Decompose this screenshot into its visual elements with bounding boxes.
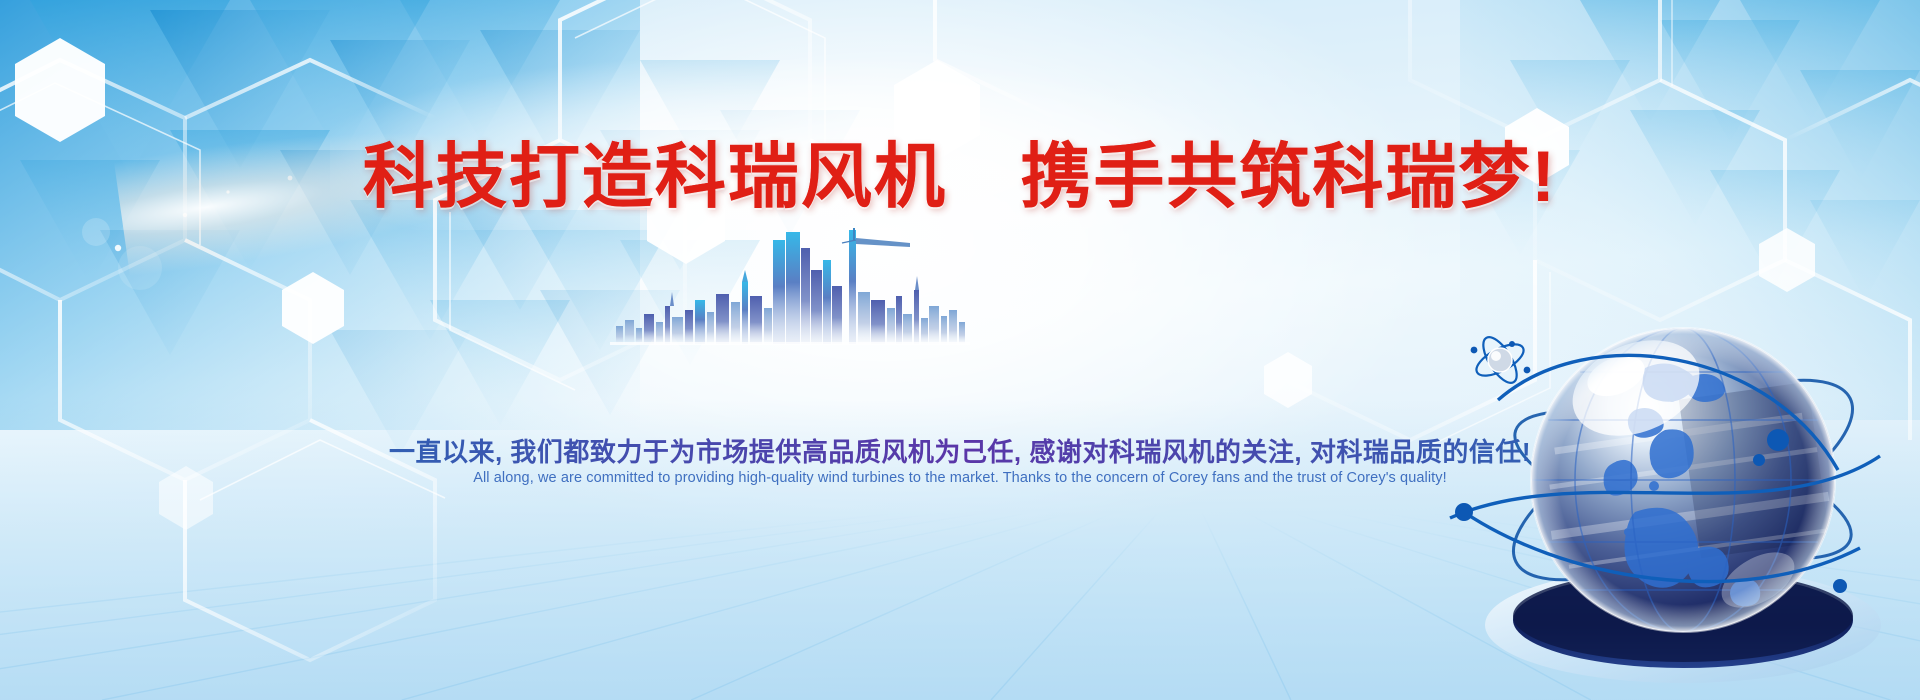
page-title: 科技打造科瑞风机 携手共筑科瑞梦! bbox=[0, 120, 1920, 222]
headline-part-1: 科技打造科瑞风机 bbox=[363, 120, 947, 222]
subtitle-english: All along, we are committed to providing… bbox=[0, 470, 1920, 486]
promotional-banner: 科技打造科瑞风机 携手共筑科瑞梦! 一直以来, 我们都致力于为市场提供高品质风机… bbox=[0, 0, 1920, 700]
subtitle-chinese: 一直以来, 我们都致力于为市场提供高品质风机为己任, 感谢对科瑞风机的关注, 对… bbox=[0, 432, 1920, 469]
headline-part-2: 携手共筑科瑞梦! bbox=[1020, 120, 1557, 222]
